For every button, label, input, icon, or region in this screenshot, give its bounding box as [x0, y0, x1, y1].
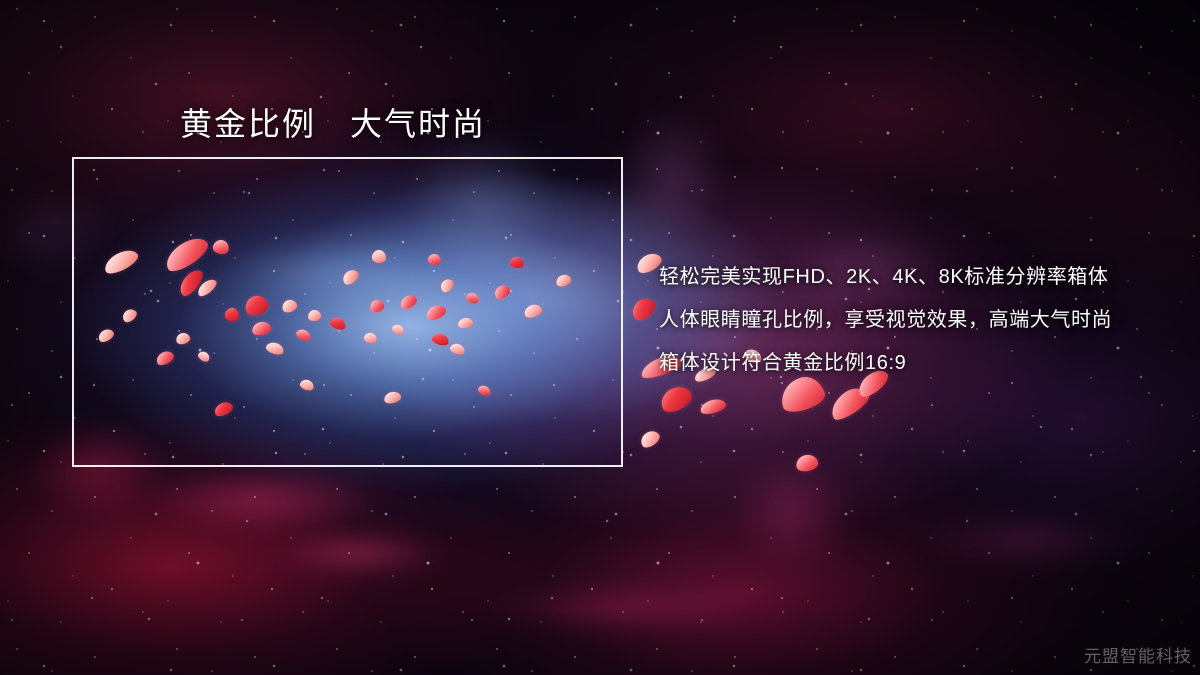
watermark-label: 元盟智能科技	[1084, 642, 1192, 667]
body-line: 人体眼睛瞳孔比例，享受视觉效果，高端大气时尚	[659, 299, 1179, 342]
body-line: 轻松完美实现FHD、2K、4K、8K标准分辨率箱体	[659, 256, 1179, 299]
framed-photo-content	[74, 159, 621, 465]
page-title: 黄金比例 大气时尚	[180, 99, 486, 145]
body-text-block: 轻松完美实现FHD、2K、4K、8K标准分辨率箱体 人体眼睛瞳孔比例，享受视觉效…	[659, 256, 1179, 385]
presentation-slide: 黄金比例 大气时尚 轻松完美实现FHD、2K、4K、8K标准分辨率箱体 人体眼睛…	[0, 0, 1200, 675]
framed-photo-16-9	[72, 157, 623, 467]
body-line: 箱体设计符合黄金比例16:9	[659, 342, 1179, 385]
